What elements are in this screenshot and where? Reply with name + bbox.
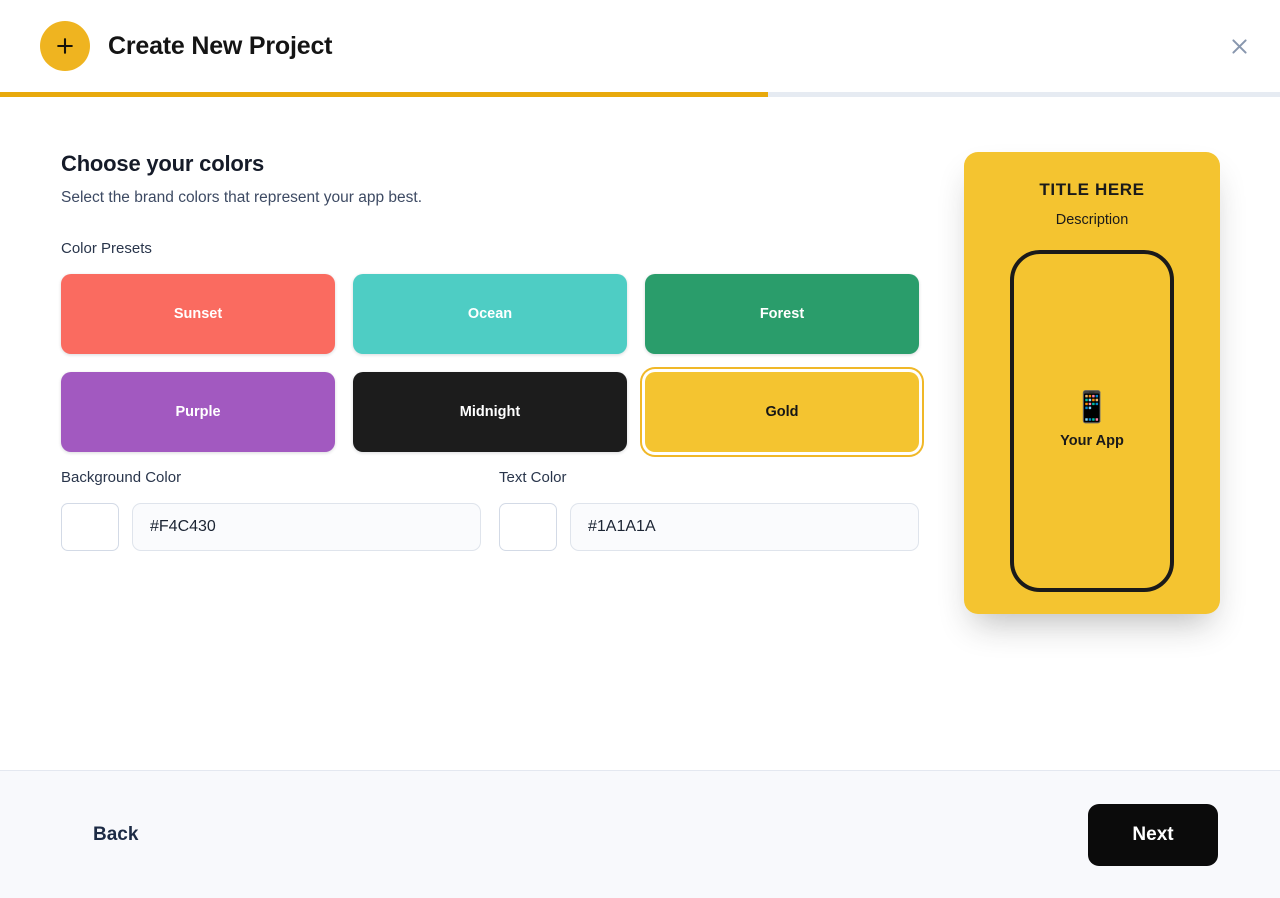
text-color-swatch[interactable] [499,503,557,551]
color-preset-sunset[interactable]: Sunset [61,274,335,354]
color-preset-ocean[interactable]: Ocean [353,274,627,354]
modal-footer: Back Next [0,770,1280,898]
color-inputs: Background Color Text Color [61,469,921,551]
text-color-label: Text Color [499,469,919,486]
preview-phone-frame: 📱 Your App [1010,250,1174,592]
color-presets-label: Color Presets [61,240,921,257]
plus-icon [40,21,90,71]
mobile-phone-icon: 📱 [1073,393,1110,423]
preview-panel: TITLE HERE Description 📱 Your App [921,151,1220,770]
preview-app-label: Your App [1060,433,1124,449]
color-preset-purple[interactable]: Purple [61,372,335,452]
color-form: Choose your colors Select the brand colo… [61,151,921,770]
text-color-row [499,503,919,551]
color-preset-midnight[interactable]: Midnight [353,372,627,452]
back-button[interactable]: Back [89,814,142,856]
background-color-label: Background Color [61,469,481,486]
preview-description: Description [1056,212,1129,228]
color-preset-grid: SunsetOceanForestPurpleMidnightGold [61,274,921,452]
create-project-modal: Create New Project Choose your colors Se… [0,0,1280,898]
preview-card: TITLE HERE Description 📱 Your App [964,152,1220,614]
page-title: Create New Project [108,34,332,59]
background-color-swatch[interactable] [61,503,119,551]
color-preset-gold[interactable]: Gold [645,372,919,452]
background-color-group: Background Color [61,469,481,551]
text-color-group: Text Color [499,469,919,551]
background-color-input[interactable] [132,503,481,551]
section-subheading: Select the brand colors that represent y… [61,189,921,207]
background-color-row [61,503,481,551]
next-button[interactable]: Next [1088,804,1218,866]
modal-header: Create New Project [0,0,1280,92]
modal-body: Choose your colors Select the brand colo… [0,97,1280,770]
color-preset-forest[interactable]: Forest [645,274,919,354]
preview-title: TITLE HERE [1039,180,1144,200]
section-heading: Choose your colors [61,151,921,177]
close-icon[interactable] [1222,29,1256,63]
text-color-input[interactable] [570,503,919,551]
